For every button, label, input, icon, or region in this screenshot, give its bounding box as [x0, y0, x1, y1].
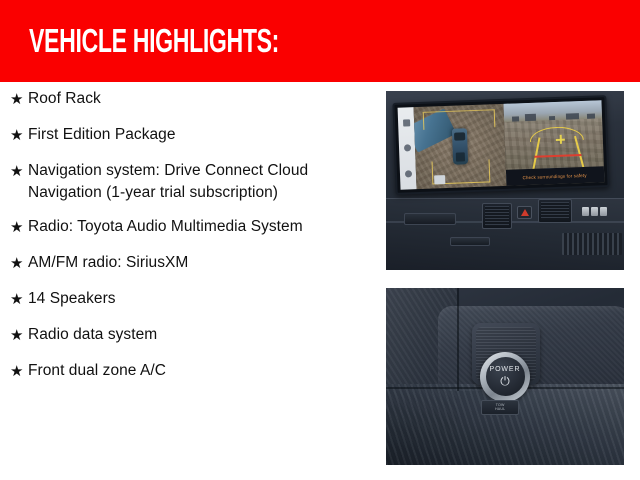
power-button-photo: POWER ⏻ TOW HAUL: [386, 288, 624, 465]
screen-corner-button[interactable]: [434, 175, 445, 184]
birds-eye-camera-view: [414, 104, 507, 189]
star-bullet-icon: ★: [10, 124, 28, 148]
list-item: ★ Front dual zone A/C: [0, 360, 366, 384]
star-bullet-icon: ★: [10, 216, 28, 240]
climate-controls[interactable]: [582, 207, 607, 216]
star-bullet-icon: ★: [10, 360, 28, 384]
power-symbol-icon: ⏻: [500, 375, 510, 387]
display-screen: Check surroundings for safety: [398, 100, 605, 189]
tow-haul-line2: HAUL: [495, 407, 505, 411]
star-bullet-icon: ★: [10, 88, 28, 112]
list-item: ★ Radio data system: [0, 324, 366, 348]
settings-icon: [403, 145, 410, 152]
speaker-grille: [562, 233, 622, 255]
vehicle-top-view-icon: [452, 128, 468, 165]
infotainment-screen-photo: Check surroundings for safety: [386, 91, 624, 270]
view-toggle-icon: [404, 170, 411, 177]
air-vent[interactable]: [482, 203, 512, 229]
dashboard-control-bar[interactable]: [450, 237, 490, 246]
list-item: ★ Navigation system: Drive Connect Cloud…: [0, 160, 366, 204]
list-item-label: Roof Rack: [28, 88, 360, 110]
tow-haul-label: TOW HAUL: [495, 403, 505, 411]
hazard-triangle-icon: [521, 209, 529, 216]
list-item-label: AM/FM radio: SiriusXM: [28, 252, 360, 274]
air-vent[interactable]: [538, 199, 572, 223]
list-item: ★ AM/FM radio: SiriusXM: [0, 252, 366, 276]
page-title: VEHICLE HIGHLIGHTS:: [29, 24, 279, 58]
list-item-label: First Edition Package: [28, 124, 360, 146]
center-crosshair-icon: [555, 134, 564, 143]
power-button-label: POWER: [490, 366, 521, 374]
dashboard-control-bar[interactable]: [404, 213, 456, 225]
list-item: ★ First Edition Package: [0, 124, 366, 148]
parking-guide-line-top: [423, 109, 495, 130]
header-banner: VEHICLE HIGHLIGHTS:: [0, 0, 640, 82]
vehicle-highlights-slide: VEHICLE HIGHLIGHTS: ★ Roof Rack ★ First …: [0, 0, 640, 480]
display-bezel: Check surroundings for safety: [392, 95, 609, 195]
tow-haul-button[interactable]: TOW HAUL: [481, 400, 519, 415]
power-button-face: POWER ⏻: [486, 357, 525, 396]
power-button[interactable]: POWER ⏻: [480, 352, 530, 402]
list-item-label: 14 Speakers: [28, 288, 360, 310]
camera-mode-icon: [403, 119, 410, 126]
list-item-label: Radio: Toyota Audio Multimedia System: [28, 216, 360, 238]
list-item: ★ Roof Rack: [0, 88, 366, 112]
list-item: ★ Radio: Toyota Audio Multimedia System: [0, 216, 366, 240]
warning-strip: Check surroundings for safety: [506, 166, 605, 186]
star-bullet-icon: ★: [10, 324, 28, 348]
panel-seam: [457, 288, 459, 391]
features-list: ★ Roof Rack ★ First Edition Package ★ Na…: [0, 88, 366, 396]
list-item-label: Front dual zone A/C: [28, 360, 360, 382]
star-bullet-icon: ★: [10, 288, 28, 312]
safety-warning-text: Check surroundings for safety: [523, 172, 587, 179]
hazard-light-button[interactable]: [517, 206, 532, 219]
list-item: ★ 14 Speakers: [0, 288, 366, 312]
rear-camera-view: Check surroundings for safety: [503, 100, 604, 186]
list-item-label: Navigation system: Drive Connect Cloud N…: [28, 160, 360, 204]
star-bullet-icon: ★: [10, 252, 28, 276]
list-item-label: Radio data system: [28, 324, 360, 346]
star-bullet-icon: ★: [10, 160, 28, 184]
